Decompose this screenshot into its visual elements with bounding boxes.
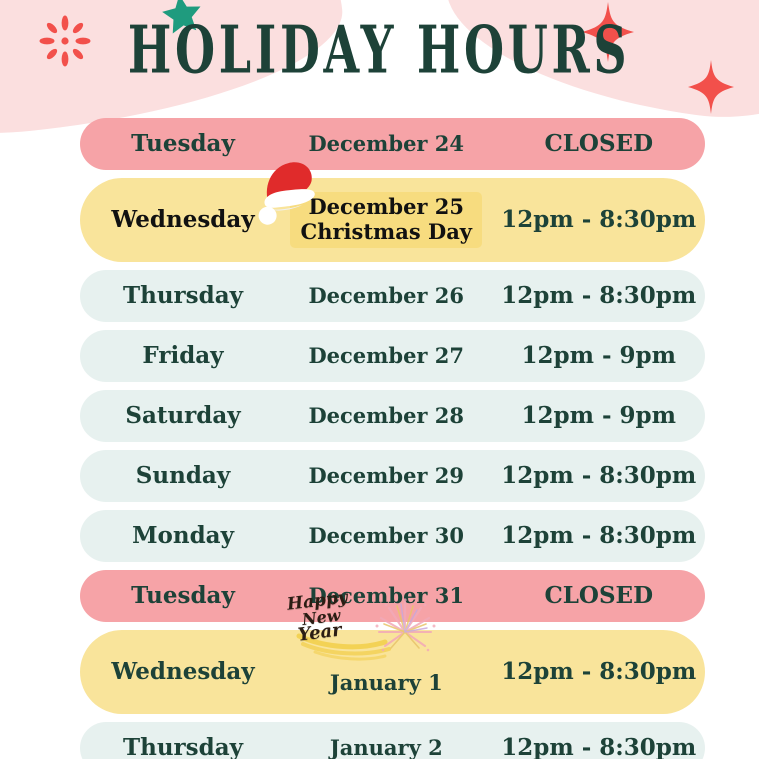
row-day: Saturday: [80, 402, 280, 429]
table-row[interactable]: Tuesday December 24 CLOSED: [80, 118, 705, 170]
happy-new-year-sticker: Happy New Year: [285, 592, 445, 666]
row-date: December 24: [280, 132, 493, 157]
row-date-line2: Christmas Day: [300, 220, 472, 245]
row-hours: 12pm - 9pm: [493, 402, 706, 429]
row-date: December 27: [280, 344, 493, 369]
row-day: Thursday: [80, 734, 280, 759]
santa-hat-icon: [250, 154, 326, 226]
row-date: December 28: [280, 404, 493, 429]
table-row[interactable]: Sunday December 29 12pm - 8:30pm: [80, 450, 705, 502]
row-day: Wednesday: [80, 658, 280, 685]
table-row[interactable]: Thursday January 2 12pm - 8:30pm: [80, 722, 705, 759]
table-row[interactable]: Wednesday January 1 12pm - 8:30pm: [80, 630, 705, 714]
row-hours: CLOSED: [493, 582, 706, 609]
table-row[interactable]: Wednesday December 25 Christmas Day 12pm…: [80, 178, 705, 262]
row-date: December 30: [280, 524, 493, 549]
row-hours: 12pm - 8:30pm: [493, 734, 706, 759]
row-date: December 26: [280, 284, 493, 309]
row-hours: 12pm - 8:30pm: [493, 282, 706, 309]
schedule-table: Tuesday December 24 CLOSED Wednesday Dec…: [80, 118, 705, 759]
holiday-hours-poster: HOLIDAY HOURS Tuesday December 24 CLOSED…: [0, 0, 759, 759]
row-hours: 12pm - 8:30pm: [493, 522, 706, 549]
row-date: December 29: [280, 464, 493, 489]
row-date-line1: December 25: [300, 195, 472, 220]
row-date: January 2: [280, 736, 493, 759]
row-hours: 12pm - 9pm: [493, 342, 706, 369]
row-hours: CLOSED: [493, 130, 706, 157]
page-title: HOLIDAY HOURS: [128, 17, 630, 83]
row-day: Sunday: [80, 462, 280, 489]
table-row[interactable]: Monday December 30 12pm - 8:30pm: [80, 510, 705, 562]
table-row[interactable]: Thursday December 26 12pm - 8:30pm: [80, 270, 705, 322]
row-day: Tuesday: [80, 582, 280, 609]
row-hours: 12pm - 8:30pm: [493, 462, 706, 489]
table-row[interactable]: Saturday December 28 12pm - 9pm: [80, 390, 705, 442]
new-year-script-text: Happy New Year: [286, 590, 352, 645]
row-hours: 12pm - 8:30pm: [493, 206, 706, 233]
poster-header: HOLIDAY HOURS: [0, 0, 759, 100]
table-row[interactable]: Friday December 27 12pm - 9pm: [80, 330, 705, 382]
row-day: Friday: [80, 342, 280, 369]
row-hours: 12pm - 8:30pm: [493, 658, 706, 685]
row-day: Thursday: [80, 282, 280, 309]
row-day: Monday: [80, 522, 280, 549]
